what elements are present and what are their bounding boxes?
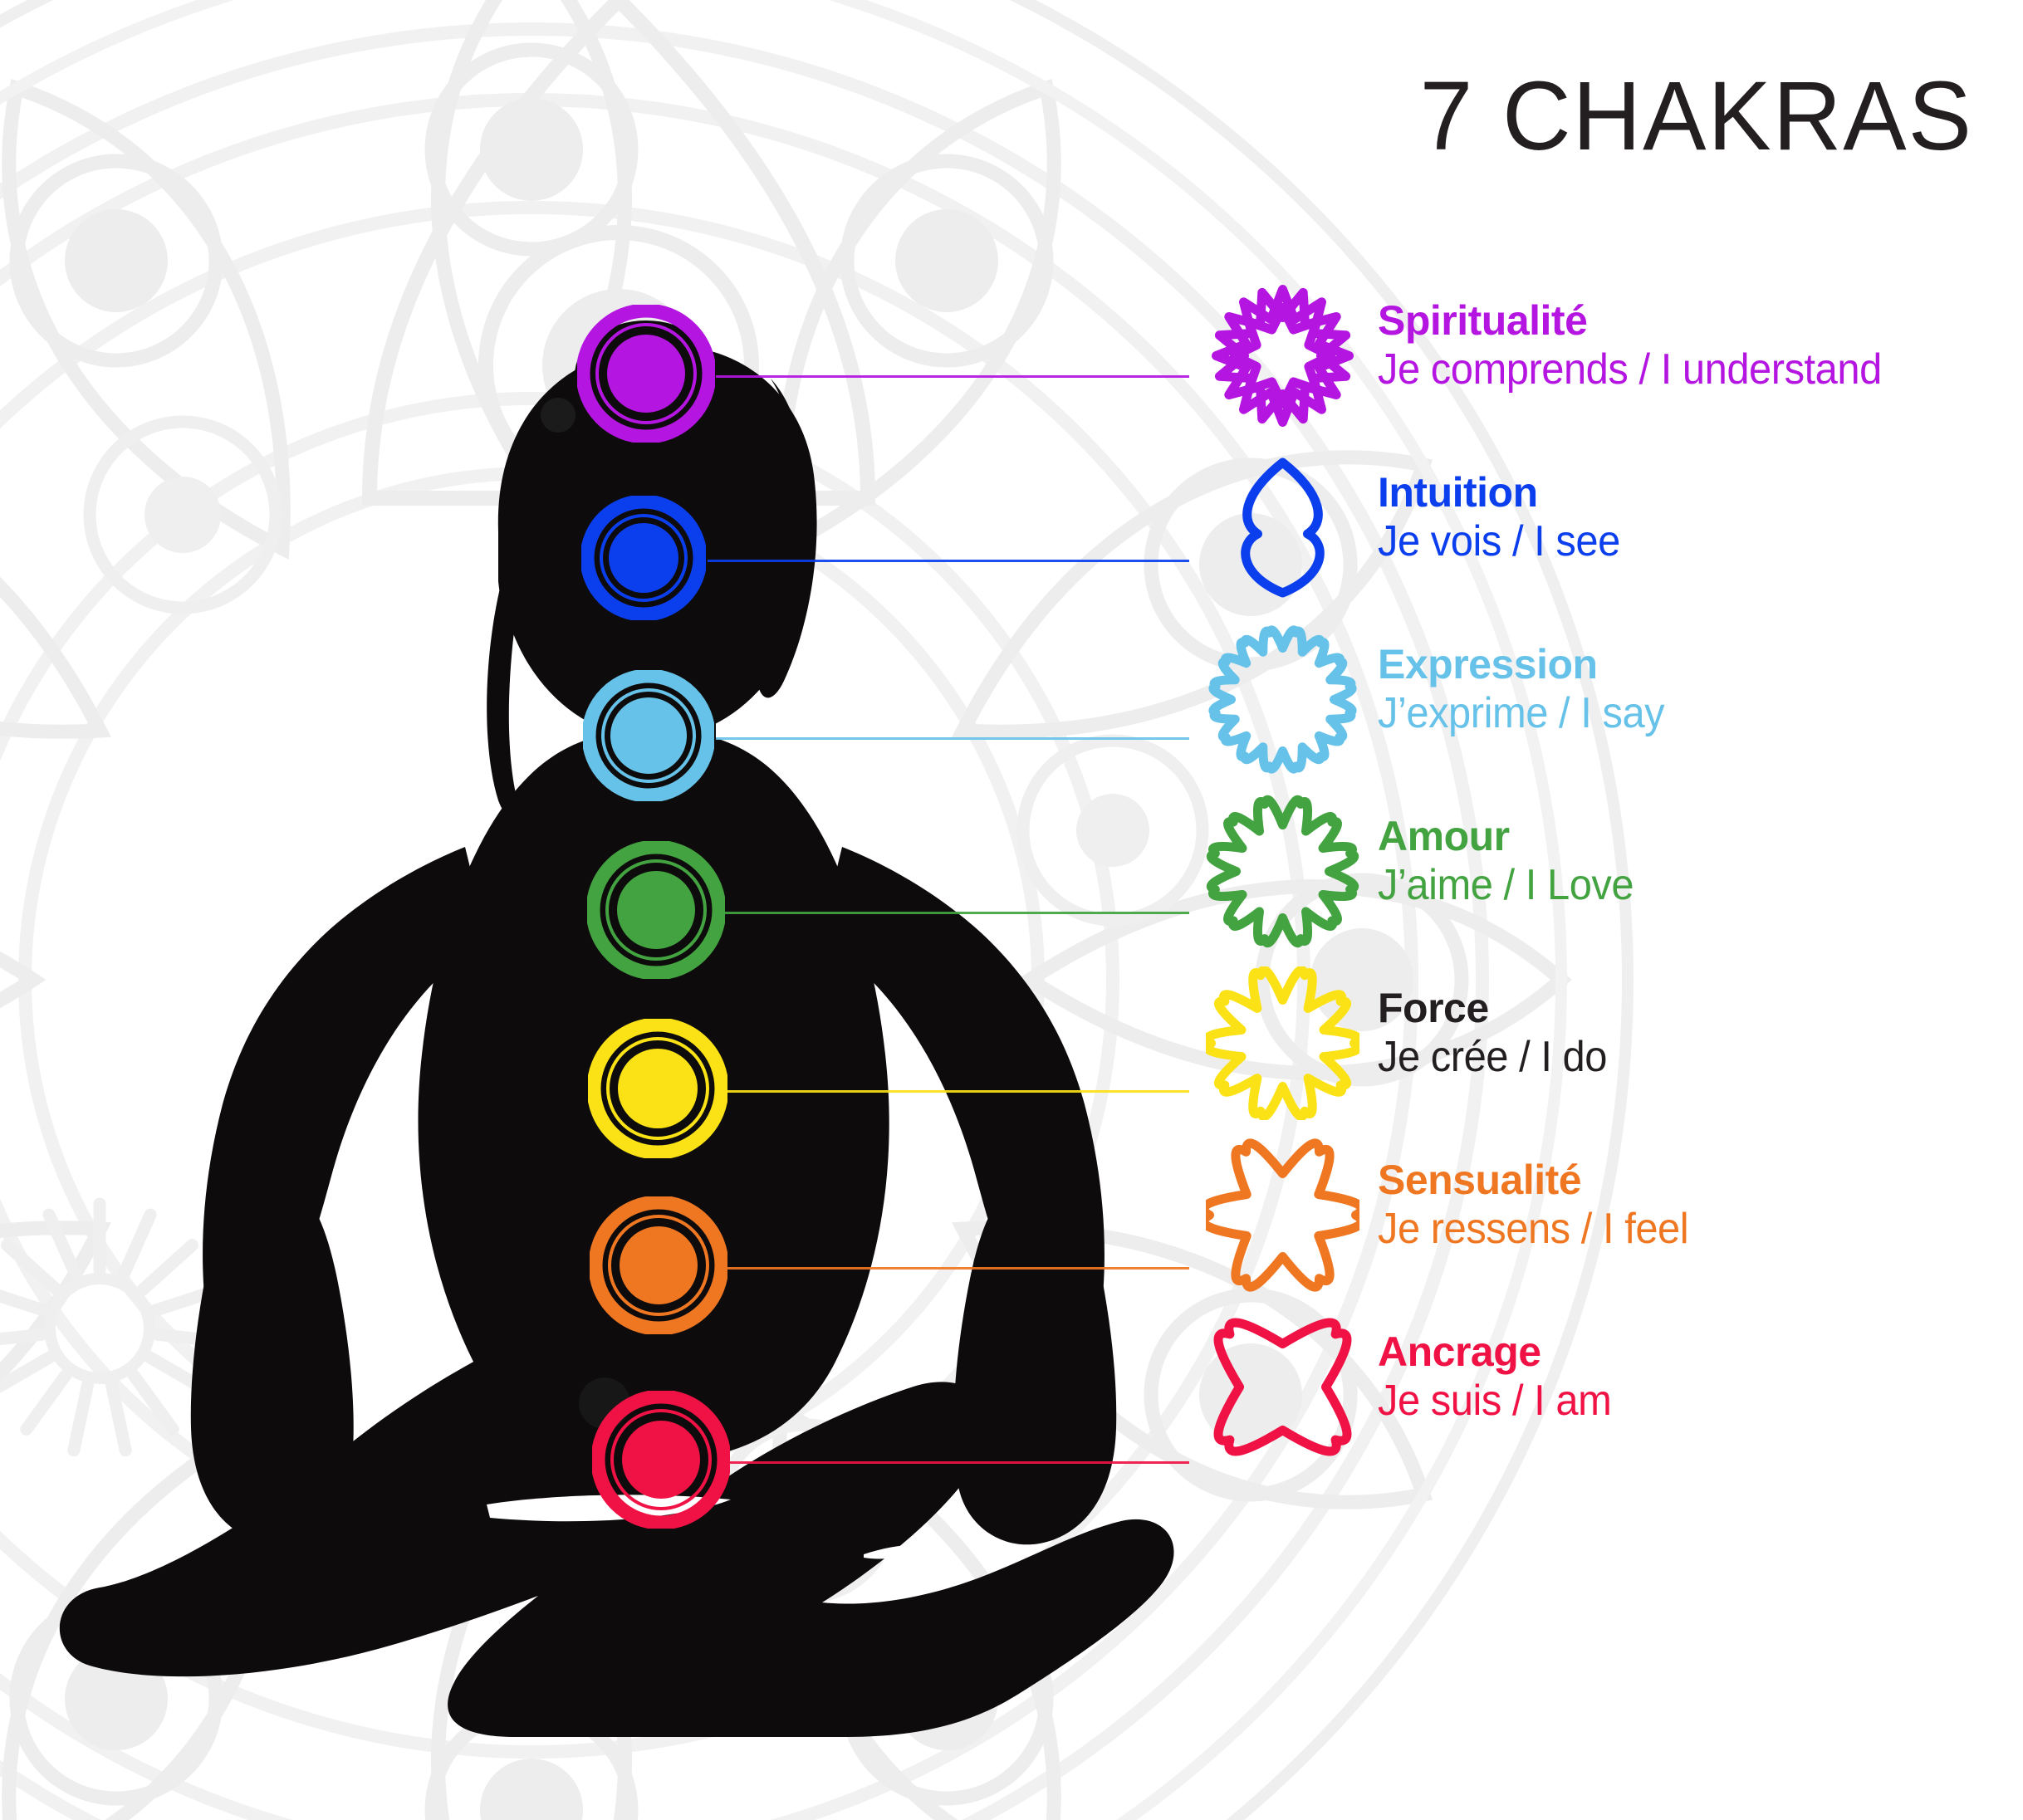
legend-text-crown: SpiritualitéJe comprends / I understand [1378, 291, 1914, 394]
legend-text-root: AncrageJe suis / I am [1378, 1322, 1626, 1425]
legend-title-solar-plexus: Force [1378, 986, 1622, 1030]
ten-petal-icon [1206, 973, 1359, 1127]
crown-chakra [577, 305, 715, 443]
legend-text-solar-plexus: ForceJe crée / I do [1378, 978, 1622, 1081]
root-chakra [592, 1391, 730, 1529]
sixteen-petal-icon [1206, 629, 1359, 783]
page-title: 7 CHAKRAS [1420, 60, 1973, 173]
legend-title-root: Ancrage [1378, 1330, 1626, 1373]
legend-row-throat[interactable]: ExpressionJ’exprime / I say [1206, 634, 2003, 806]
heart-connector-line [724, 912, 1189, 914]
legend-title-heart: Amour [1378, 815, 1650, 858]
legend-title-throat: Expression [1378, 643, 1683, 686]
legend-row-sacral[interactable]: SensualitéJe ressens / I feel [1206, 1150, 2003, 1322]
legend-row-solar-plexus[interactable]: ForceJe crée / I do [1206, 978, 2003, 1150]
legend-title-crown: Spiritualité [1378, 299, 1914, 342]
solar-plexus-connector-line [727, 1090, 1189, 1093]
root-connector-line [729, 1461, 1189, 1464]
legend-text-sacral: SensualitéJe ressens / I feel [1378, 1150, 1708, 1253]
legend-title-sacral: Sensualité [1378, 1158, 1708, 1201]
legend-subtitle-solar-plexus: Je crée / I do [1378, 1033, 1607, 1081]
legend-subtitle-sacral: Je ressens / I feel [1378, 1205, 1688, 1253]
six-petal-icon [1206, 1145, 1359, 1299]
solar-plexus-chakra [588, 1019, 727, 1158]
legend-title-third-eye: Intuition [1378, 471, 1635, 514]
legend-subtitle-third-eye: Je vois / I see [1378, 517, 1620, 565]
third-eye-chakra [581, 496, 706, 620]
legend-row-root[interactable]: AncrageJe suis / I am [1206, 1322, 2003, 1494]
mandala-star-icon [1206, 286, 1359, 439]
crown-connector-line [716, 375, 1189, 378]
legend-subtitle-root: Je suis / I am [1378, 1377, 1611, 1425]
legend-text-third-eye: IntuitionJe vois / I see [1378, 462, 1635, 565]
legend-row-crown[interactable]: SpiritualitéJe comprends / I understand [1206, 291, 2003, 462]
four-petal-icon [1206, 1317, 1359, 1470]
legend-subtitle-throat: J’exprime / I say [1378, 689, 1664, 737]
chakra-legend: SpiritualitéJe comprends / I understandI… [1206, 291, 2003, 1494]
legend-text-heart: AmourJ’aime / I Love [1378, 806, 1650, 909]
legend-subtitle-heart: J’aime / I Love [1378, 861, 1634, 909]
legend-subtitle-crown: Je comprends / I understand [1378, 345, 1882, 394]
heart-chakra [587, 841, 725, 979]
lotus-bud-icon [1206, 457, 1359, 611]
sacral-chakra [590, 1196, 727, 1334]
legend-row-heart[interactable]: AmourJ’aime / I Love [1206, 806, 2003, 978]
throat-connector-line [716, 737, 1189, 740]
legend-row-third-eye[interactable]: IntuitionJe vois / I see [1206, 462, 2003, 634]
throat-chakra [583, 670, 714, 801]
legend-text-throat: ExpressionJ’exprime / I say [1378, 634, 1683, 737]
twelve-petal-icon [1206, 801, 1359, 955]
third-eye-connector-line [708, 560, 1189, 562]
infographic-canvas: 7 CHAKRAS SpiritualitéJe comprends / I u… [0, 0, 2023, 1820]
sacral-connector-line [727, 1267, 1189, 1270]
